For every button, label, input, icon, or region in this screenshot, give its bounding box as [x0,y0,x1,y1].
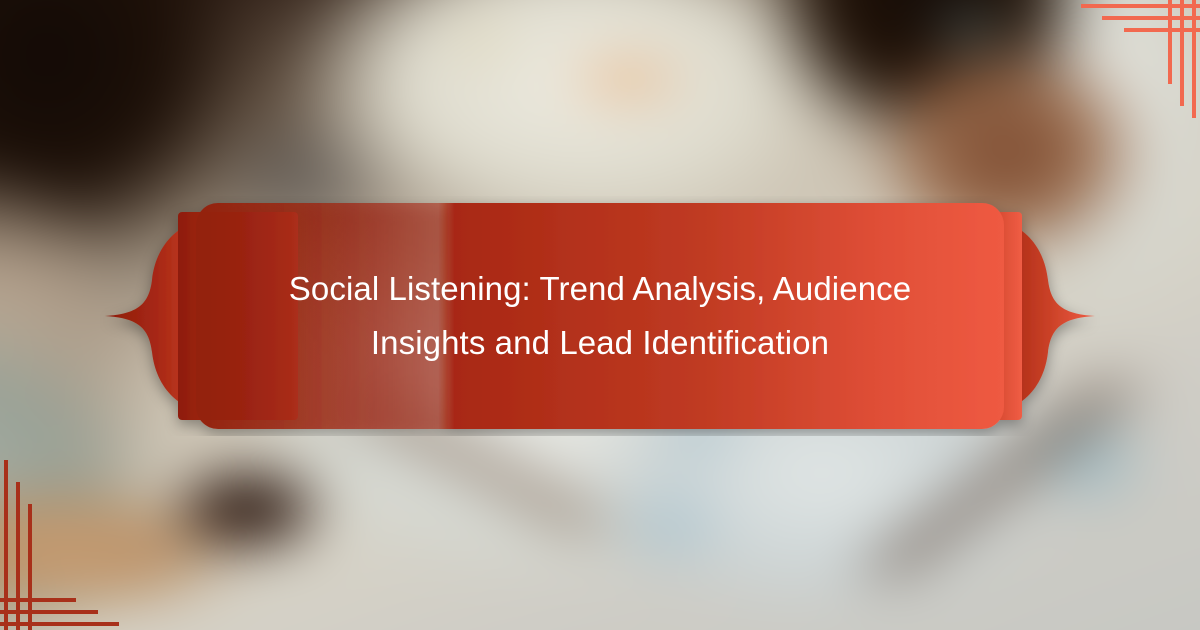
banner-title-line-1: Social Listening: Trend Analysis, Audien… [289,262,911,316]
background-blob-yellow-mark [430,18,536,71]
deco-vertical-line-2 [16,482,20,630]
deco-vertical-line-1 [4,460,8,630]
deco-vertical-line-1 [1192,0,1196,118]
deco-horizontal-line-2 [0,610,98,614]
deco-horizontal-line-2 [1102,16,1200,20]
deco-horizontal-line-3 [0,598,76,602]
deco-horizontal-line-3 [1124,28,1200,32]
background-blob-orange-mark [526,50,727,108]
background-blob-glasses [150,448,383,586]
deco-vertical-line-2 [1180,0,1184,106]
deco-vertical-line-3 [28,504,32,630]
deco-vertical-line-3 [1168,0,1172,84]
corner-decoration-bottom-left [0,450,170,630]
banner-title-line-2: Insights and Lead Identification [371,316,829,370]
banner-title-block: Social Listening: Trend Analysis, Audien… [100,196,1100,436]
corner-decoration-top-right [1030,0,1200,120]
background-blob-teal-chart-1 [913,0,1030,61]
share-card-canvas: Social Listening: Trend Analysis, Audien… [0,0,1200,630]
title-banner: Social Listening: Trend Analysis, Audien… [100,196,1100,436]
